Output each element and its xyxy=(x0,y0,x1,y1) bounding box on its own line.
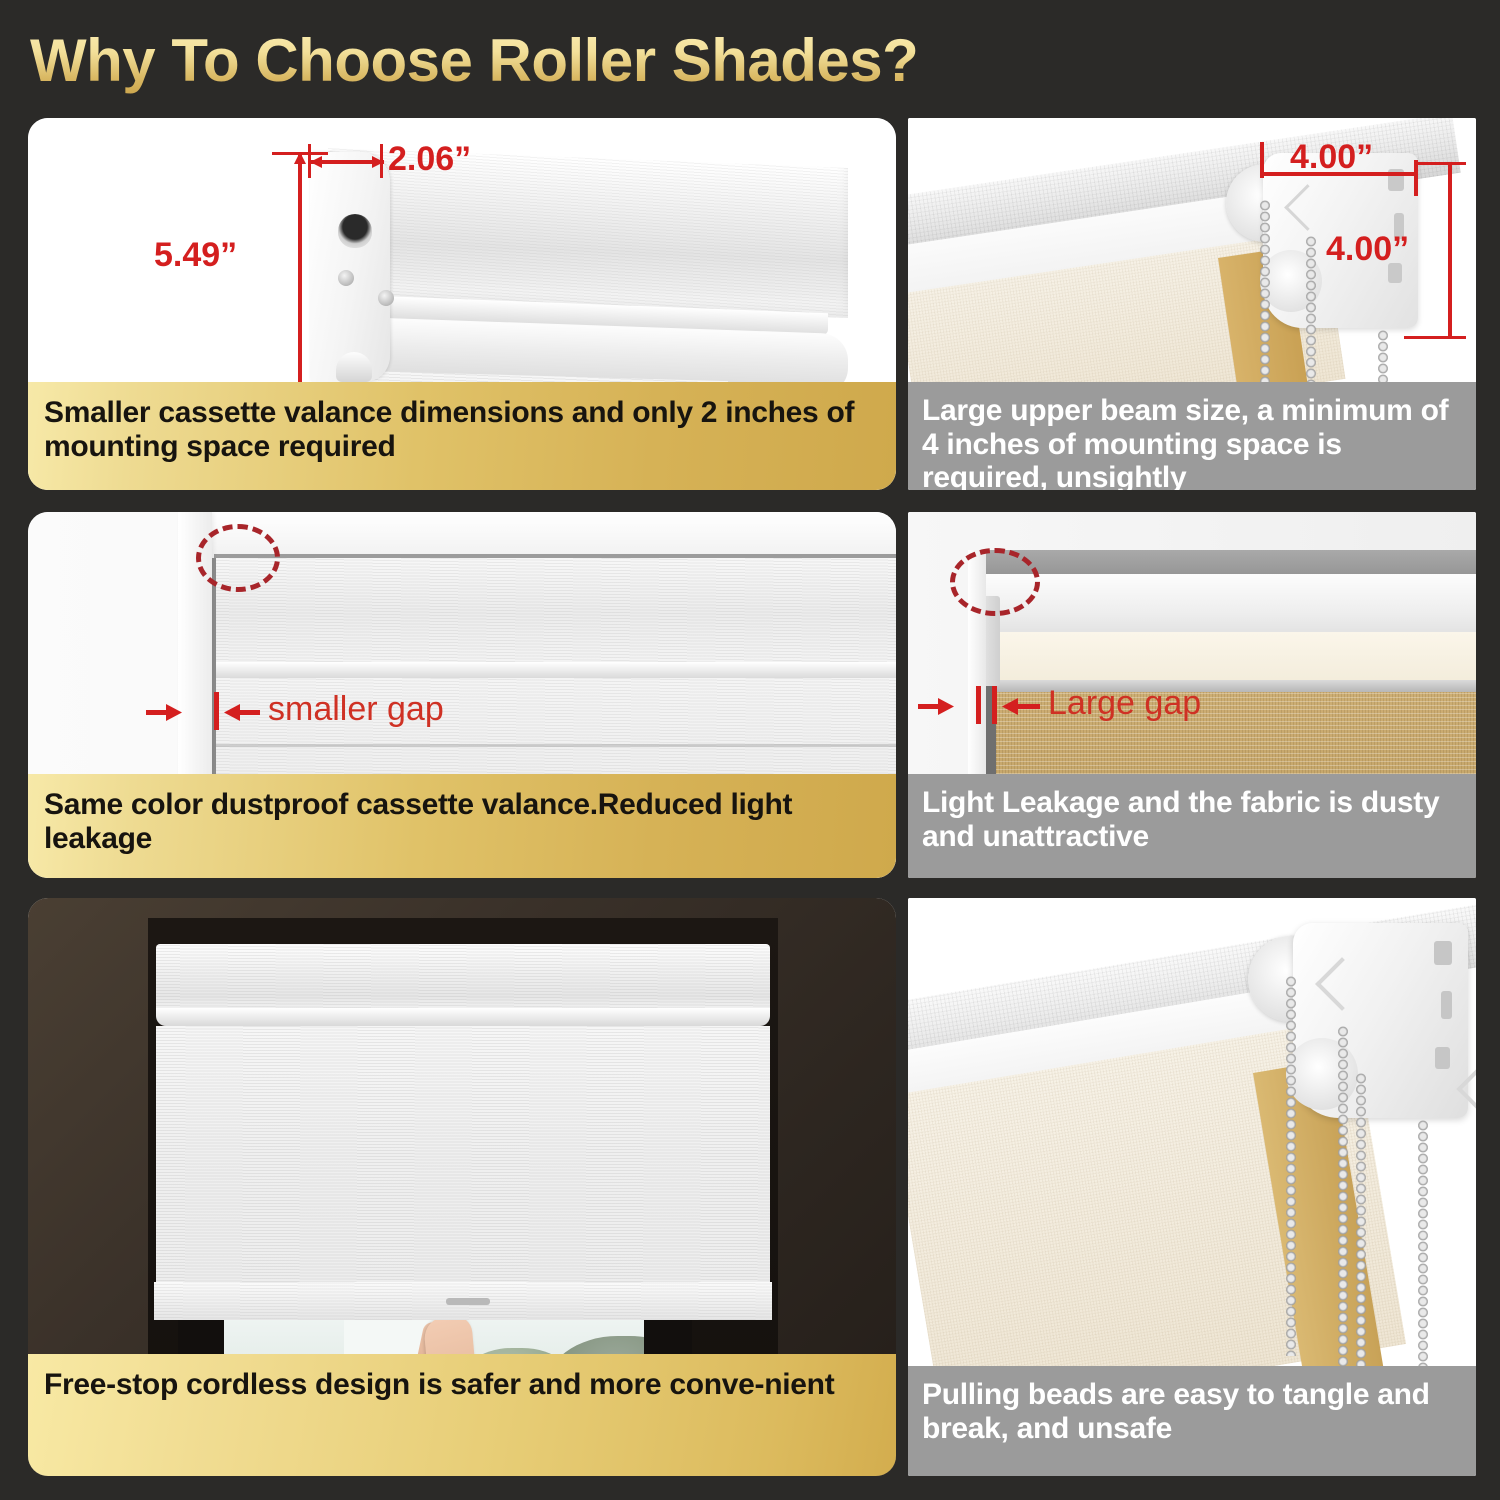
bead-chain xyxy=(1338,1026,1348,1366)
dimension-label-height: 4.00” xyxy=(1326,230,1409,269)
caption-con-pulling-beads: Pulling beads are easy to tangle and bre… xyxy=(908,1366,1476,1476)
bead-chain xyxy=(1418,1120,1428,1370)
screw-icon xyxy=(338,270,354,286)
gap-callout-label: smaller gap xyxy=(268,690,444,729)
panel-pro-smaller-gap: smaller gap Same color dustproof cassett… xyxy=(28,512,896,878)
caption-pro-smaller-gap: Same color dustproof cassette valance.Re… xyxy=(28,774,896,878)
bead-chain xyxy=(1306,236,1316,406)
screw-icon xyxy=(378,290,394,306)
bottom-rail-grip xyxy=(446,1298,490,1305)
bracket-knob-icon xyxy=(336,352,372,382)
infographic-page: Why To Choose Roller Shades? 2.06” xyxy=(0,0,1500,1500)
panel-con-pulling-beads: Pulling beads are easy to tangle and bre… xyxy=(908,898,1476,1476)
dimension-label-height: 5.49” xyxy=(154,236,237,275)
panel-pro-cordless-design: Free-stop cordless design is safer and m… xyxy=(28,898,896,1476)
dimension-label-width: 2.06” xyxy=(388,140,471,179)
panel-pro-cassette-dimensions: 2.06” 5.49” Smaller cassette valance dim… xyxy=(28,118,896,490)
highlight-circle xyxy=(196,524,280,592)
page-title: Why To Choose Roller Shades? xyxy=(30,22,1230,100)
bead-chain xyxy=(1260,200,1270,400)
bracket-slot-icon xyxy=(338,214,372,248)
caption-pro-cordless-design: Free-stop cordless design is safer and m… xyxy=(28,1354,896,1476)
panel-con-large-upper-beam: 4.00” 4.00” Large upper beam size, a min… xyxy=(908,118,1476,490)
highlight-circle xyxy=(950,548,1040,616)
caption-con-light-leakage: Light Leakage and the fabric is dusty an… xyxy=(908,774,1476,878)
gap-callout-label: Large gap xyxy=(1048,684,1201,723)
dimension-label-width: 4.00” xyxy=(1290,138,1373,177)
bead-chain xyxy=(1356,1073,1366,1373)
caption-pro-cassette-dimensions: Smaller cassette valance dimensions and … xyxy=(28,382,896,490)
bead-chain xyxy=(1286,976,1296,1356)
caption-con-large-upper-beam: Large upper beam size, a minimum of 4 in… xyxy=(908,382,1476,490)
panel-con-light-leakage: Large gap Light Leakage and the fabric i… xyxy=(908,512,1476,878)
